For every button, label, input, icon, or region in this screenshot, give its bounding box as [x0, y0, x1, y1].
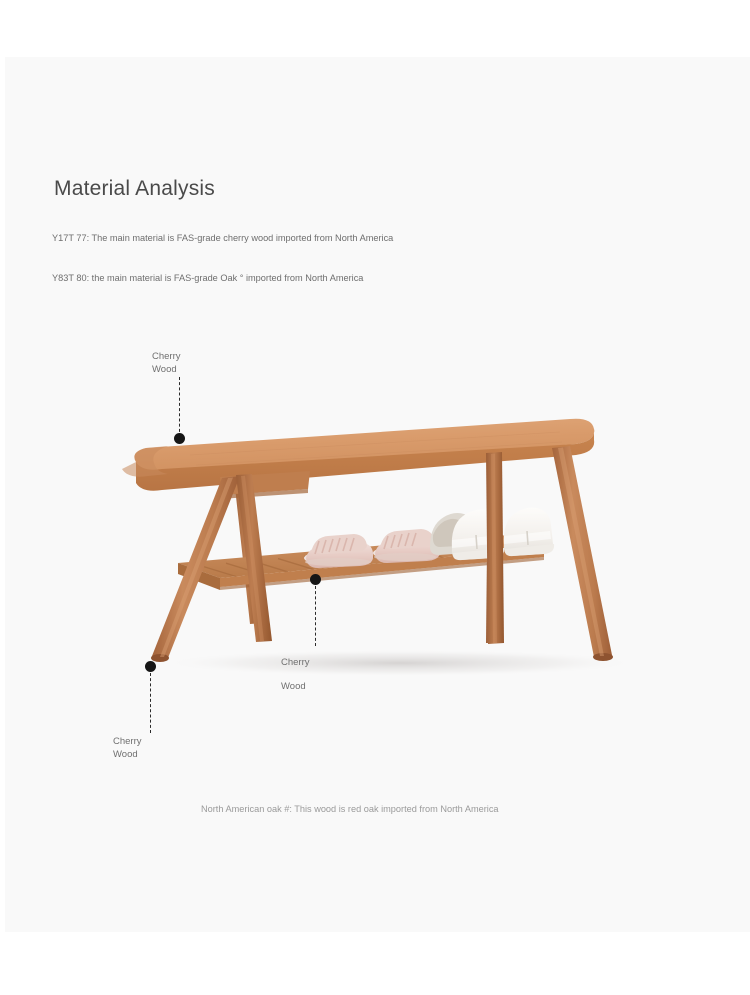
floor-shadow	[170, 650, 630, 676]
slipper-right	[373, 529, 440, 563]
callout-label-lower-shelf: Cherry Wood	[281, 651, 310, 699]
leader-line-lower-shelf	[315, 586, 316, 646]
callout-dot-seat-top	[174, 433, 185, 444]
page-title: Material Analysis	[54, 177, 215, 201]
slipper-left	[304, 534, 373, 568]
callout-dot-leg-foot	[145, 661, 156, 672]
product-illustration	[100, 415, 640, 705]
callout-label-leg-foot: Cherry Wood	[113, 736, 142, 761]
seat-top	[122, 419, 594, 499]
callout-label-seat-top: Cherry Wood	[152, 351, 181, 376]
sneaker-right	[504, 508, 554, 557]
leader-line-leg-foot	[150, 673, 151, 733]
footnote-text: North American oak #: This wood is red o…	[201, 803, 531, 816]
page-root: Material Analysis Y17T 77: The main mate…	[0, 0, 750, 995]
intro-text-oak: Y83T 80: the main material is FAS-grade …	[52, 272, 442, 285]
intro-text-cherry: Y17T 77: The main material is FAS-grade …	[52, 232, 442, 245]
callout-dot-lower-shelf	[310, 574, 321, 585]
leader-line-seat-top	[179, 377, 180, 437]
